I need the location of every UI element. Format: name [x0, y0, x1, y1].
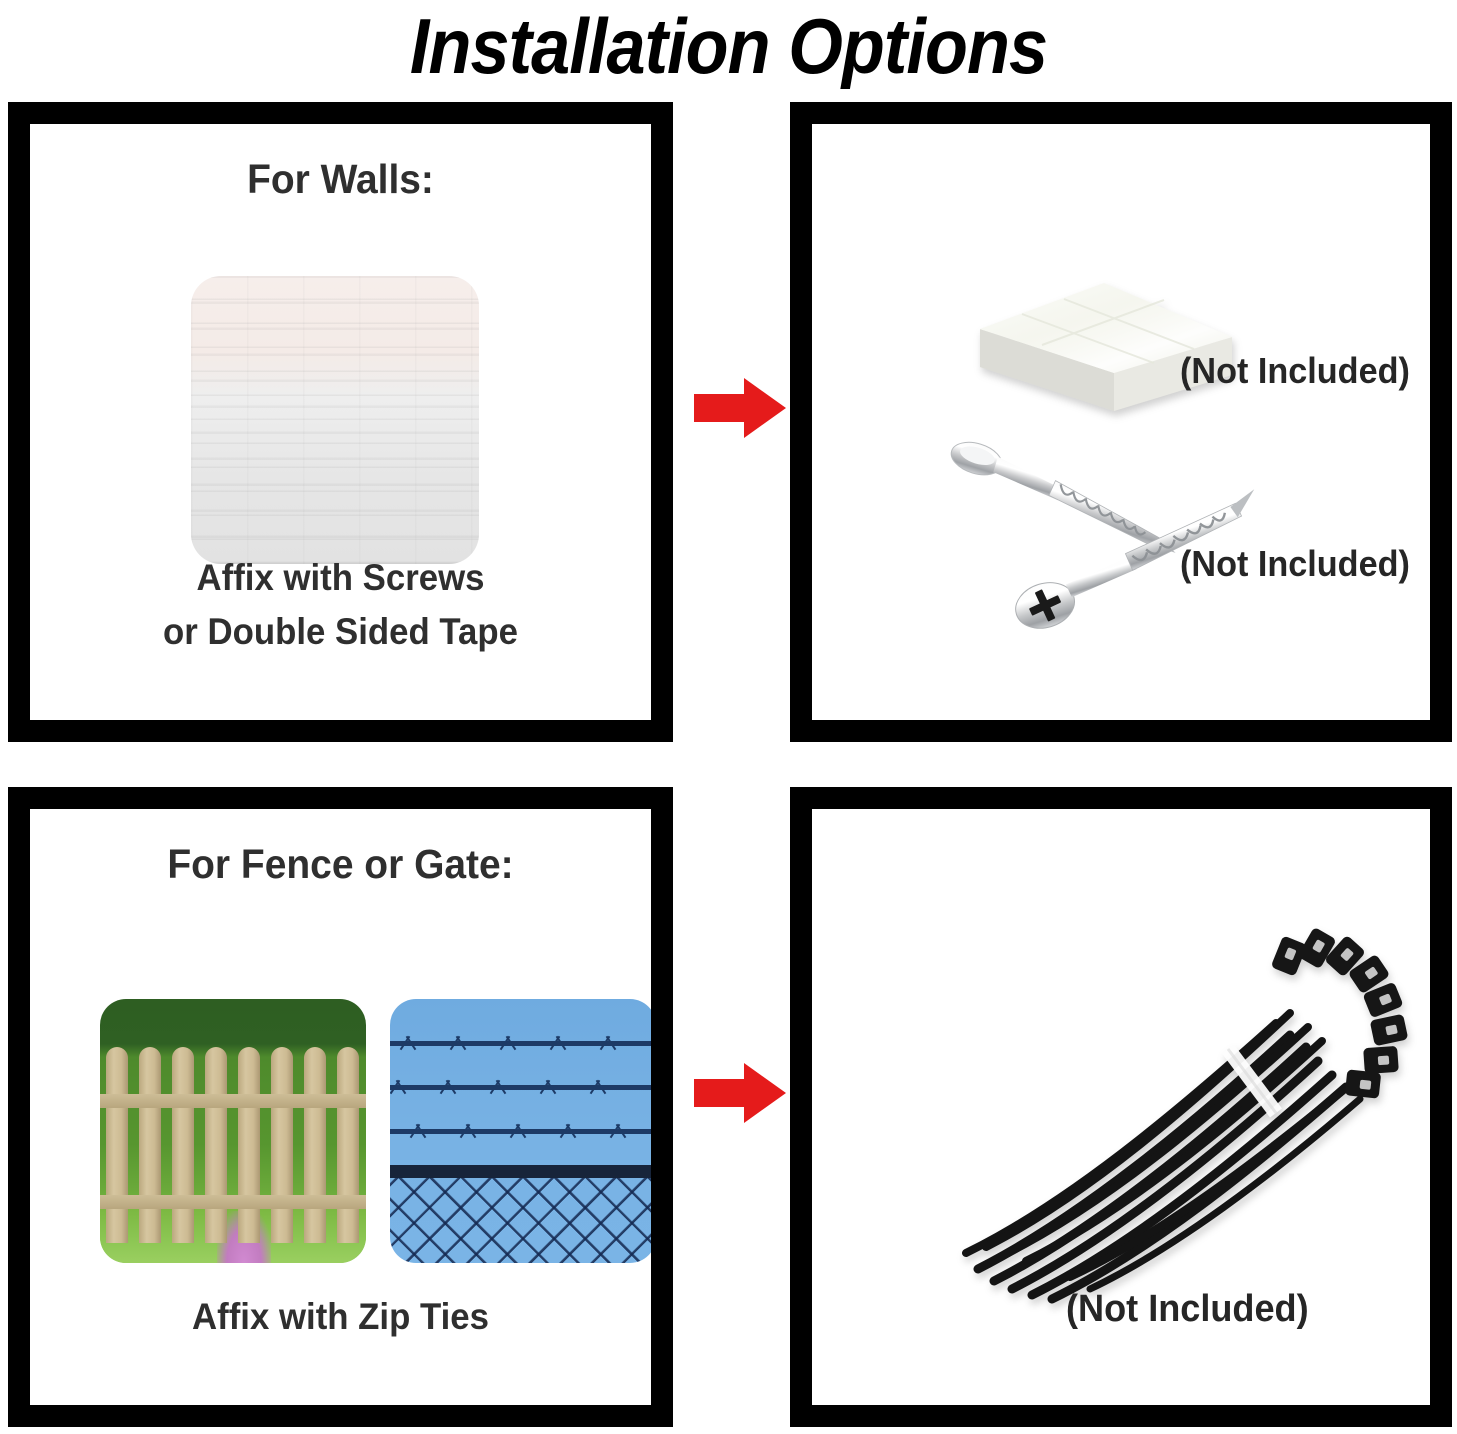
panel-for-fence-heading: For Fence or Gate:	[46, 839, 636, 889]
zip-ties-not-included-label: (Not Included)	[1066, 1287, 1309, 1331]
panel-for-walls-caption-line2: or Double Sided Tape	[49, 606, 633, 658]
panel-for-walls-content: For Walls: Affix with Screws or Double S…	[30, 124, 651, 720]
installation-options-infographic: Installation Options For Walls: Affix wi…	[0, 0, 1457, 1434]
red-right-arrow-icon	[694, 378, 786, 438]
screws-not-included-label: (Not Included)	[1180, 542, 1410, 586]
panel-wall-hardware-content: (Not Included)	[812, 124, 1430, 720]
wooden-picket-fence-image	[100, 999, 366, 1263]
panel-for-walls-heading: For Walls:	[46, 154, 636, 204]
panel-fence-hardware-content: (Not Included)	[812, 809, 1430, 1405]
panel-for-fence-content: For Fence or Gate:	[30, 809, 651, 1405]
panel-for-fence-caption: Affix with Zip Ties	[49, 1291, 633, 1343]
tape-not-included-label: (Not Included)	[1180, 349, 1410, 393]
black-zip-ties-bundle-image	[960, 917, 1420, 1307]
red-right-arrow-icon	[694, 1063, 786, 1123]
page-title: Installation Options	[73, 0, 1384, 94]
panel-for-walls: For Walls: Affix with Screws or Double S…	[8, 102, 673, 742]
barbed-wire-chain-link-fence-image	[390, 999, 651, 1263]
panel-for-walls-caption-line1: Affix with Screws	[49, 552, 633, 604]
panel-wall-hardware: (Not Included)	[790, 102, 1452, 742]
white-brick-wall-image	[191, 276, 479, 564]
panel-for-fence-or-gate: For Fence or Gate:	[8, 787, 673, 1427]
panel-fence-hardware: (Not Included)	[790, 787, 1452, 1427]
